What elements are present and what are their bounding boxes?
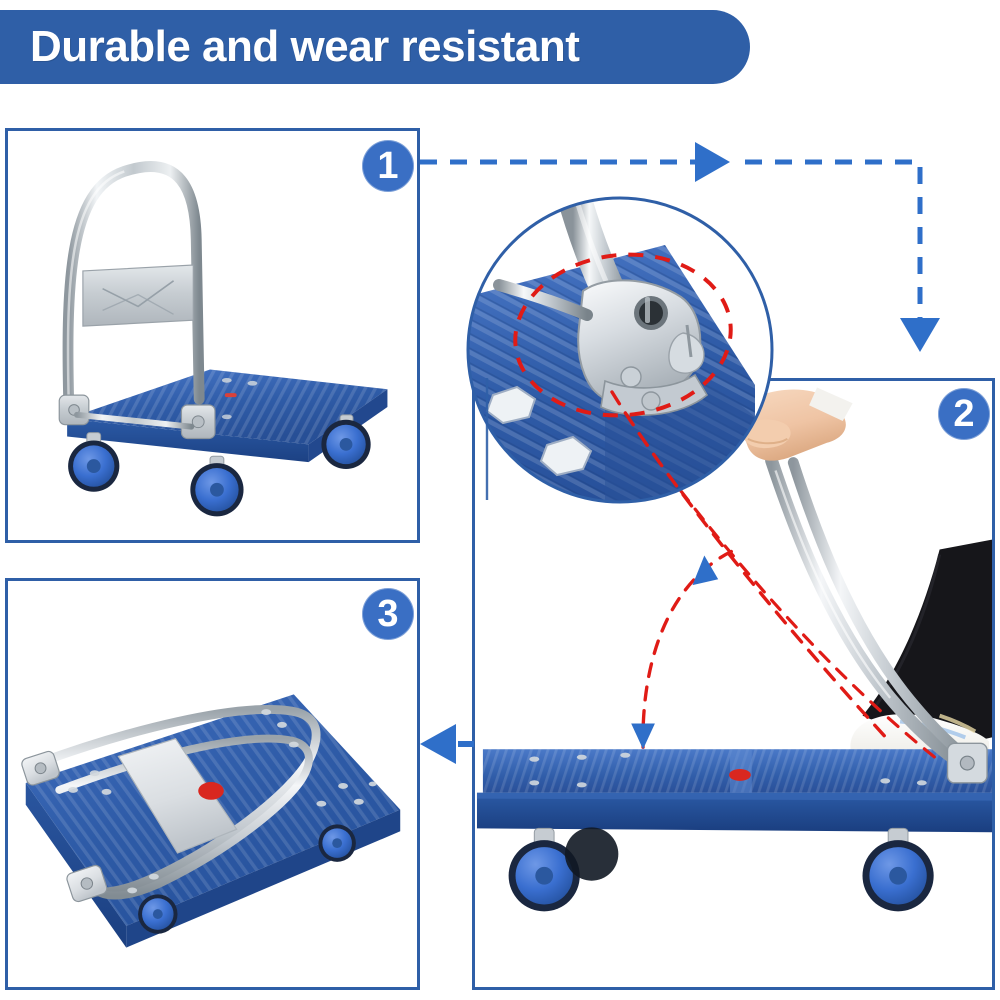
step-badge-3: 3 bbox=[362, 588, 414, 640]
caster-folded-right bbox=[318, 824, 355, 861]
panel-step-3 bbox=[5, 578, 420, 990]
hinge-left bbox=[59, 395, 89, 425]
hinge-right bbox=[181, 405, 215, 439]
arrowhead-left bbox=[420, 724, 456, 764]
caster-right-front bbox=[863, 828, 934, 911]
arrowhead-down bbox=[900, 318, 940, 352]
folded-cart-illustration bbox=[8, 581, 417, 987]
caster-front-left bbox=[68, 433, 119, 492]
page-title: Durable and wear resistant bbox=[30, 22, 579, 72]
header-banner: Durable and wear resistant bbox=[0, 10, 750, 84]
arrowhead-right bbox=[695, 142, 730, 182]
upright-cart-illustration bbox=[8, 131, 417, 540]
connector-2-to-3 bbox=[420, 724, 474, 764]
step-badge-1: 1 bbox=[362, 140, 414, 192]
hinge-active bbox=[948, 743, 988, 783]
panel-step-1 bbox=[5, 128, 420, 543]
step-badge-2: 2 bbox=[938, 388, 990, 440]
hinge-magnifier bbox=[455, 185, 785, 515]
caster-folded-bottom bbox=[138, 894, 177, 933]
caster-front-right bbox=[190, 456, 243, 516]
